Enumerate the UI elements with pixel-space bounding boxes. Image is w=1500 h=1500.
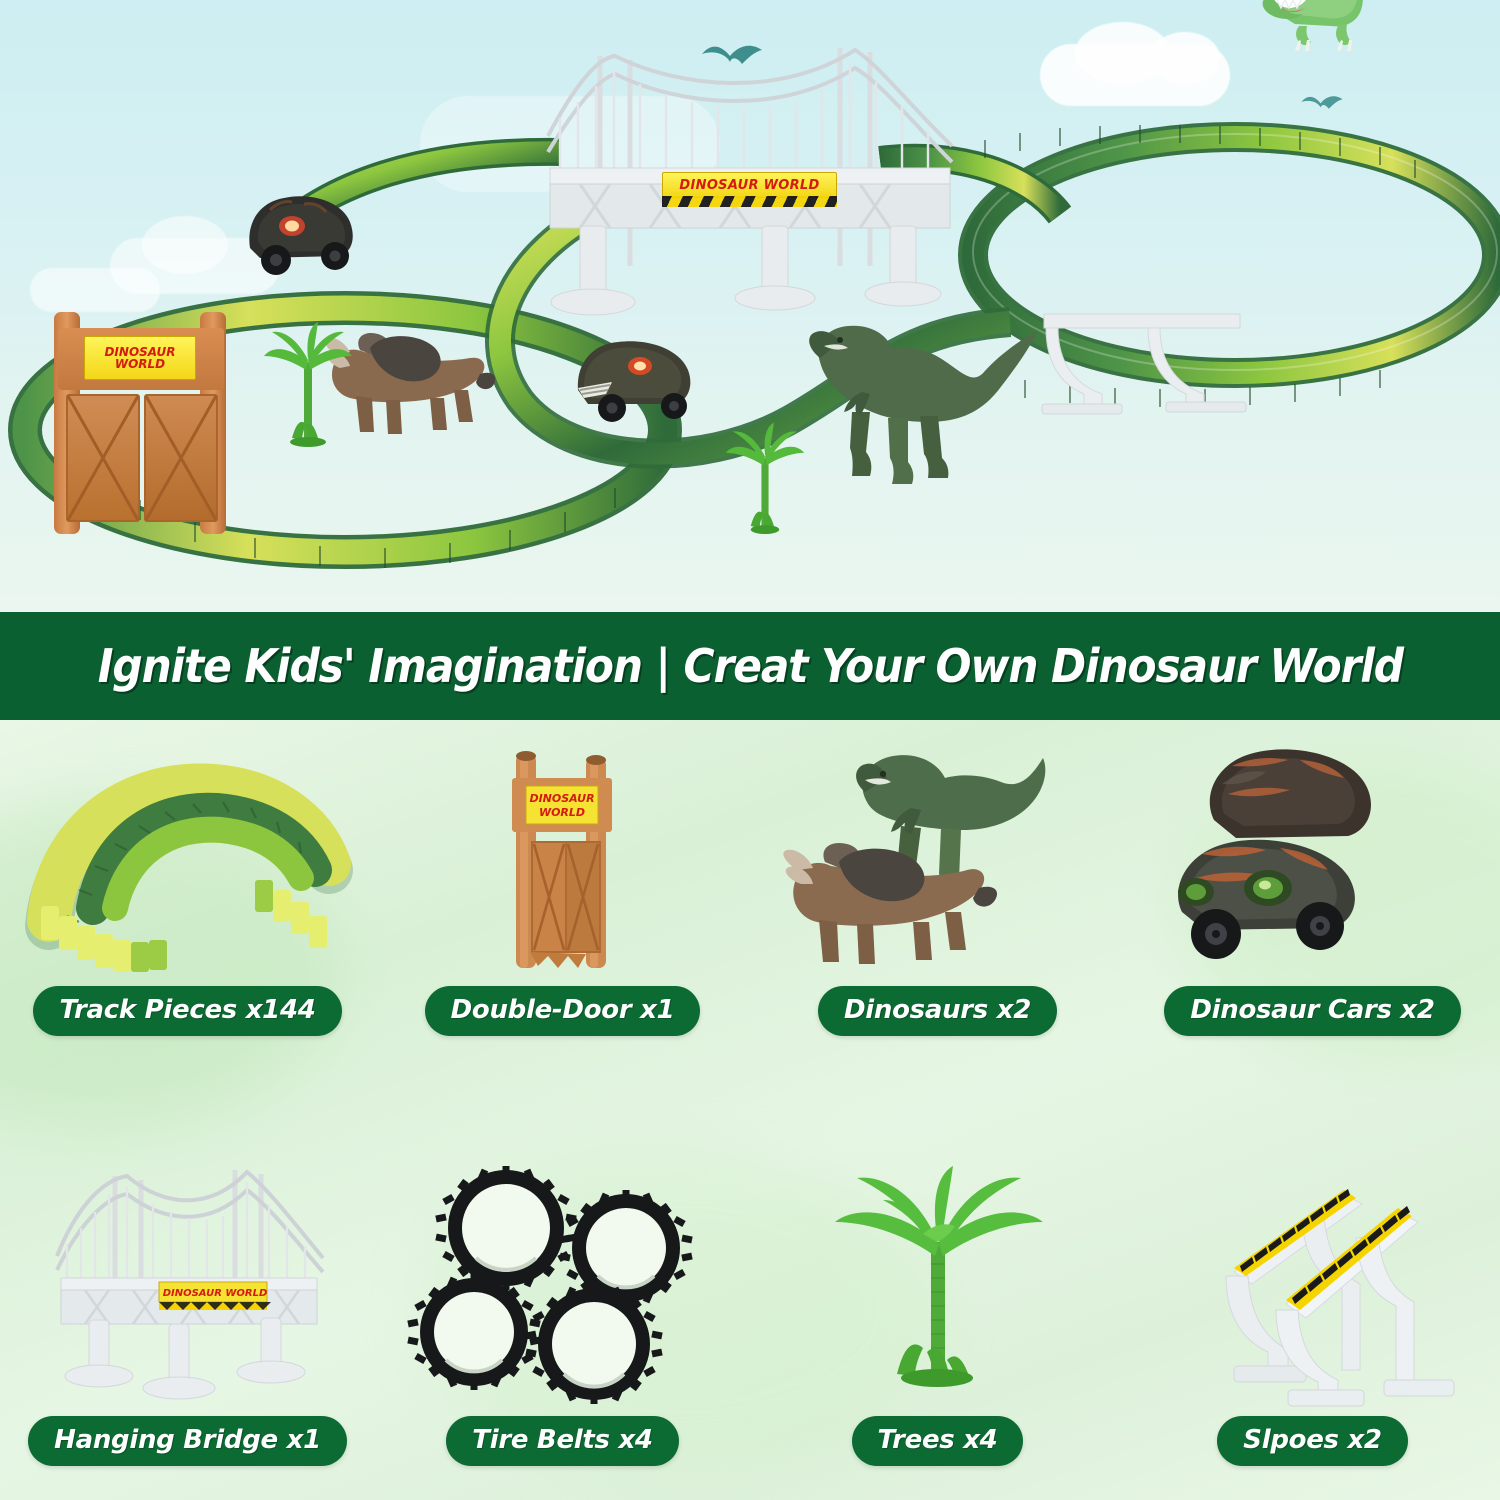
component-trees: Trees x4 <box>750 1160 1125 1466</box>
hanging-bridge-icon: DINOSAUR WORLD <box>23 1160 353 1410</box>
component-dinosaur-cars: Dinosaur Cars x2 <box>1125 730 1500 1036</box>
svg-text:DINOSAUR WORLD: DINOSAUR WORLD <box>162 1288 267 1299</box>
suspension-bridge: DINOSAUR WORLD <box>540 26 960 316</box>
component-tire-belts: Tire Belts x4 <box>375 1160 750 1466</box>
component-dinosaurs: Dinosaurs x2 <box>750 730 1125 1036</box>
trees-label: Trees x4 <box>852 1416 1024 1466</box>
ramp-slope <box>1040 288 1250 416</box>
components-grid: Track Pieces x144 DINOSAUR WOR <box>0 720 1500 1500</box>
track-pieces-label: Track Pieces x144 <box>33 986 341 1036</box>
svg-text:DINOSAUR: DINOSAUR <box>529 792 594 805</box>
headline-text: Ignite Kids' Imagination | Creat Your Ow… <box>97 639 1402 693</box>
track-pieces-icon <box>23 730 353 980</box>
components-row-2: DINOSAUR WORLD Hanging Bridge <box>0 1160 1500 1466</box>
bridge-sign-text: DINOSAUR WORLD <box>679 178 819 193</box>
components-row-1: Track Pieces x144 DINOSAUR WOR <box>0 730 1500 1036</box>
dinosaur-cars-label: Dinosaur Cars x2 <box>1164 986 1460 1036</box>
dinosaur-car-green <box>570 330 700 426</box>
double-door-gate-icon: DINOSAUR WORLD <box>398 730 728 980</box>
component-track-pieces: Track Pieces x144 <box>0 730 375 1036</box>
trex-mascot-icon <box>1255 0 1375 56</box>
headline-banner: Ignite Kids' Imagination | Creat Your Ow… <box>0 612 1500 720</box>
palm-tree <box>262 318 354 448</box>
dinosaur-car-dark <box>240 186 364 278</box>
palm-tree <box>724 418 806 536</box>
tire-belts-label: Tire Belts x4 <box>446 1416 678 1466</box>
bridge-sign: DINOSAUR WORLD <box>662 172 837 198</box>
component-hanging-bridge: DINOSAUR WORLD Hanging Bridge <box>0 1160 375 1466</box>
dinosaurs-label: Dinosaurs x2 <box>818 986 1057 1036</box>
slopes-label: Slpoes x2 <box>1217 1416 1407 1466</box>
component-double-door: DINOSAUR WORLD Double-Door x1 <box>375 730 750 1036</box>
tire-belts-icon <box>398 1160 728 1410</box>
dinosaur-cars-icon <box>1148 730 1478 980</box>
tyrannosaurus-figure <box>800 300 1050 500</box>
palm-tree-icon <box>773 1160 1103 1410</box>
hero-scene: DINOSAUR WORLD <box>0 0 1500 612</box>
component-slopes: Slpoes x2 <box>1125 1160 1500 1466</box>
product-listing-image: DINOSAUR WORLD <box>0 0 1500 1500</box>
gate-sign: DINOSAUR WORLD <box>84 336 196 380</box>
entry-gate: DINOSAUR WORLD <box>48 300 238 535</box>
dinosaur-figures-icon <box>773 730 1103 980</box>
svg-text:WORLD: WORLD <box>538 806 584 819</box>
gate-sign-line2: WORLD <box>115 358 165 370</box>
slope-ramp-icon <box>1148 1160 1478 1410</box>
bridge-hazard-stripe <box>662 196 837 207</box>
hanging-bridge-label: Hanging Bridge x1 <box>28 1416 347 1466</box>
double-door-label: Double-Door x1 <box>425 986 701 1036</box>
